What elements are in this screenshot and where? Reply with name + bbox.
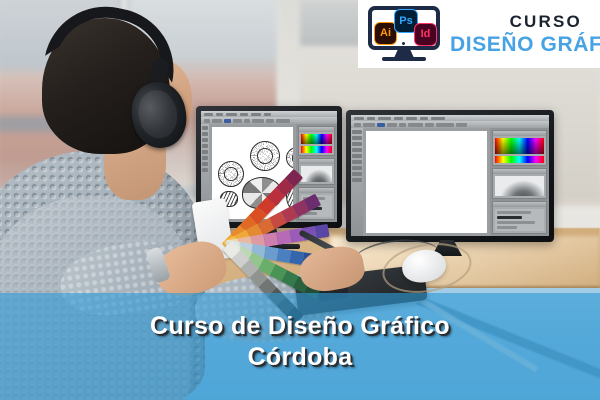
logo-line-diseno-grafico: DISEÑO GRÁFICO (450, 34, 600, 55)
right-histogram-panel[interactable] (492, 168, 547, 199)
panel-header (493, 202, 546, 207)
right-monitor-screen[interactable] (351, 115, 549, 236)
color-gradient-field[interactable] (495, 138, 544, 154)
caption-line-2: Córdoba (248, 343, 353, 372)
left-app-toolbar[interactable] (201, 117, 337, 124)
screenshot-root: Ai Ps Id CURSO DISEÑO GRÁFICO Curso de D… (0, 0, 600, 400)
logo-banner: Ai Ps Id CURSO DISEÑO GRÁFICO (358, 0, 600, 68)
histogram-graph (301, 166, 332, 182)
left-color-picker-panel[interactable] (298, 126, 335, 156)
hue-strip[interactable] (301, 146, 332, 153)
histogram-graph (495, 176, 544, 196)
panel-header (493, 131, 546, 136)
monitor-led-icon (402, 42, 405, 45)
right-app-toolbar[interactable] (351, 121, 549, 128)
caption-line-1: Curso de Diseño Gráfico (150, 312, 450, 341)
logo-wordmark: CURSO DISEÑO GRÁFICO (450, 13, 600, 55)
right-app-canvas[interactable] (366, 131, 487, 233)
right-color-picker-panel[interactable] (492, 130, 547, 166)
logo-line-curso: CURSO (510, 13, 582, 30)
panel-header (493, 169, 546, 174)
panel-header (299, 127, 334, 132)
course-logo-mark: Ai Ps Id (364, 4, 444, 64)
hue-strip[interactable] (495, 156, 544, 163)
right-app-toolbox[interactable] (351, 128, 363, 236)
right-app-body (351, 128, 549, 236)
panel-header (299, 188, 334, 193)
monitor-base-icon (382, 57, 426, 61)
left-histogram-panel[interactable] (298, 158, 335, 185)
right-monitor (346, 110, 554, 242)
color-gradient-field[interactable] (301, 134, 332, 144)
right-app-panels[interactable] (490, 128, 549, 236)
properties-rows[interactable] (495, 209, 544, 231)
right-properties-panel[interactable] (492, 201, 547, 234)
panel-header (299, 159, 334, 164)
adobe-indesign-icon: Id (414, 23, 437, 46)
caption-block: Curso de Diseño Gráfico Córdoba (0, 300, 600, 400)
right-app-window (351, 115, 549, 236)
